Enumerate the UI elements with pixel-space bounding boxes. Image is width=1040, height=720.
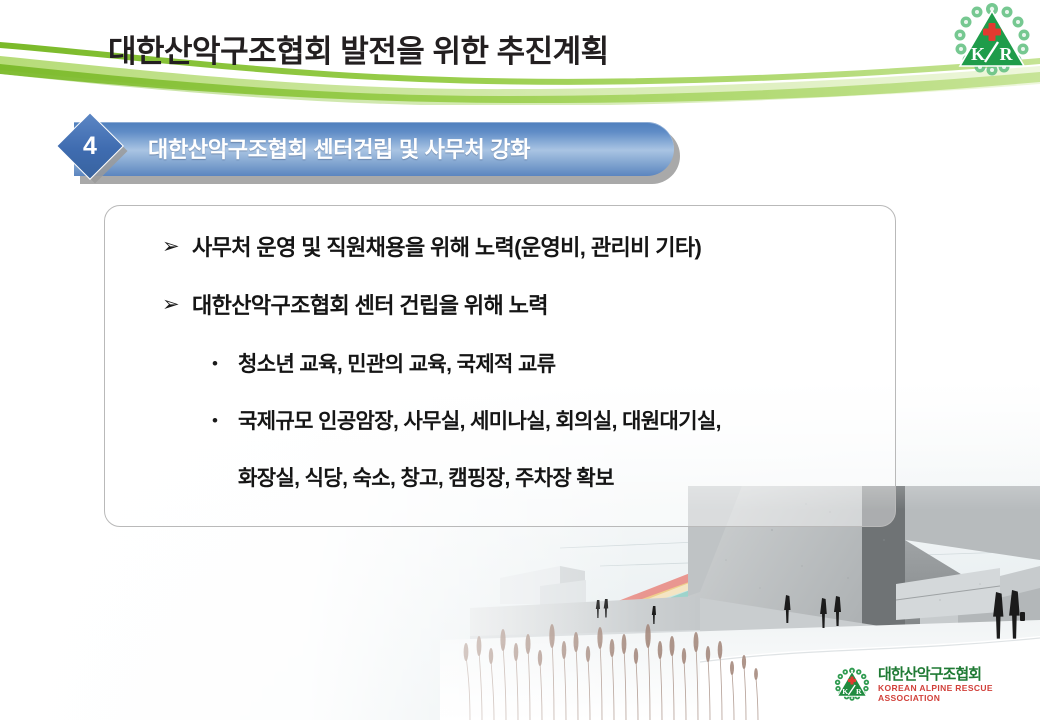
footer-logo-text: 대한산악구조협회 KOREAN ALPINE RESCUE ASSOCIATIO… [878,667,1034,703]
bullet-item-1-text: 사무처 운영 및 직원채용을 위해 노력(운영비, 관리비 기타) [192,235,701,260]
footer-logo: K R 대한산악구조협회 KOREAN ALPINE RESCUE ASSOCI… [834,662,1034,708]
section-header: 대한산악구조협회 센터건립 및 사무처 강화 4 [58,118,678,188]
bullet-item-2-text: 대한산악구조협회 센터 건립을 위해 노력 [192,293,548,318]
svg-text:K: K [971,44,985,64]
section-heading: 대한산악구조협회 센터건립 및 사무처 강화 [148,132,530,164]
dot-bullet-icon: • [212,410,238,431]
footer-org-name-ko: 대한산악구조협회 [878,667,1034,684]
svg-text:K: K [842,687,848,696]
bullet-item-2: ➢ 대한산악구조협회 센터 건립을 위해 노력 [162,293,548,318]
presentation-slide: 대한산악구조협회 발전을 위한 추진계획 K R 대한산악구조협 [0,0,1040,720]
sub-bullet-item-1-text: 청소년 교육, 민관의 교육, 국제적 교류 [238,353,555,377]
arrow-bullet-icon: ➢ [162,235,192,258]
sub-bullet-item-2-continuation-text: 화장실, 식당, 숙소, 창고, 캠핑장, 주차장 확보 [238,467,614,491]
svg-text:R: R [856,687,862,696]
section-number: 4 [66,122,114,170]
svg-text:R: R [1000,44,1014,64]
dot-bullet-icon: • [212,353,238,374]
sub-bullet-item-1: • 청소년 교육, 민관의 교육, 국제적 교류 [212,353,555,377]
kara-emblem-icon: K R [952,2,1032,80]
bullet-item-1: ➢ 사무처 운영 및 직원채용을 위해 노력(운영비, 관리비 기타) [162,235,701,260]
sub-bullet-item-2-text: 국제규모 인공암장, 사무실, 세미나실, 회의실, 대원대기실, [238,410,721,434]
sub-bullet-item-2-continuation: 화장실, 식당, 숙소, 창고, 캠핑장, 주차장 확보 [238,467,614,491]
kara-emblem-icon: K R [834,667,870,703]
slide-title: 대한산악구조협회 발전을 위한 추진계획 [108,26,609,71]
sub-bullet-item-2: • 국제규모 인공암장, 사무실, 세미나실, 회의실, 대원대기실, [212,410,721,434]
footer-org-name-en: KOREAN ALPINE RESCUE ASSOCIATION [878,684,1034,703]
arrow-bullet-icon: ➢ [162,293,192,316]
bullet-list: ➢ 사무처 운영 및 직원채용을 위해 노력(운영비, 관리비 기타) ➢ 대한… [104,205,894,525]
